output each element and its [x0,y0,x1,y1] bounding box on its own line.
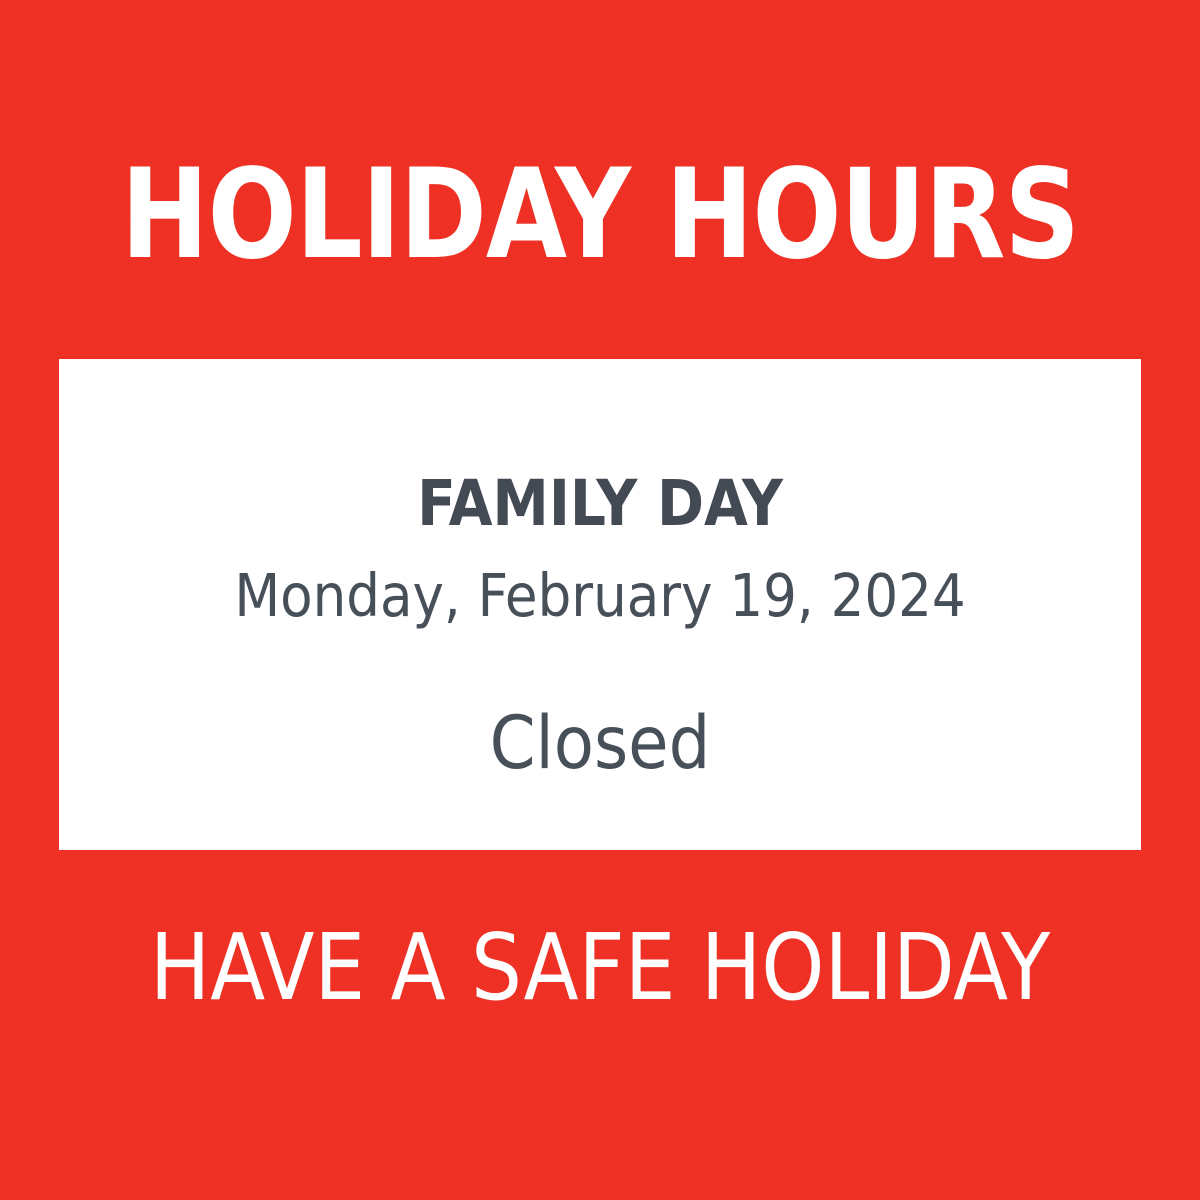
holiday-name: FAMILY DAY [59,472,1141,535]
holiday-info-card-content: FAMILY DAY Monday, February 19, 2024 Clo… [59,359,1141,780]
holiday-info-card: FAMILY DAY Monday, February 19, 2024 Clo… [59,359,1141,850]
holiday-hours-sign: HOLIDAY HOURS FAMILY DAY Monday, Februar… [0,0,1200,1200]
status-badge: Closed [59,625,1141,780]
page-title: HOLIDAY HOURS [36,150,1164,280]
holiday-date: Monday, February 19, 2024 [59,535,1141,625]
footer-message: HAVE A SAFE HOLIDAY [18,918,1182,1018]
